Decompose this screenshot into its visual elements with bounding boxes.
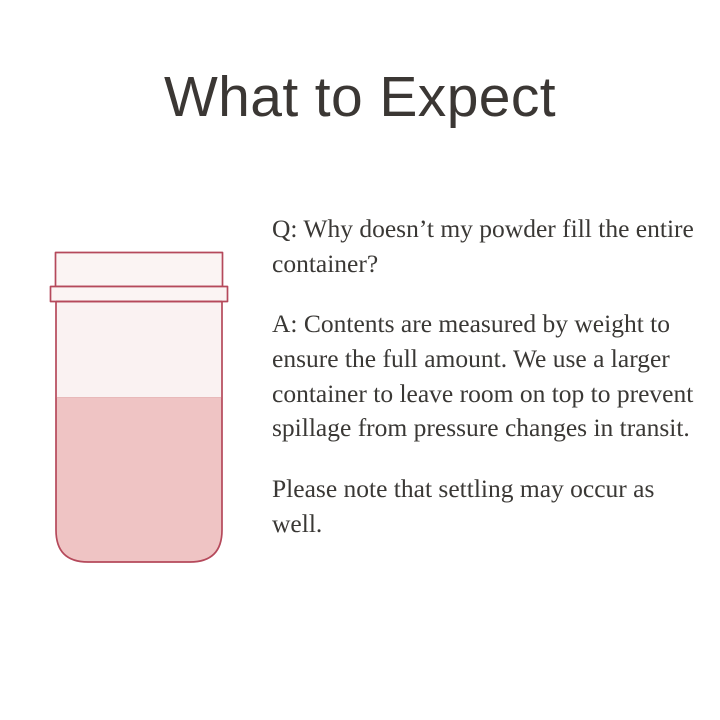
faq-text-block: Q: Why doesn’t my powder fill the entire… xyxy=(272,212,696,541)
lid-flange xyxy=(51,287,228,302)
page-title: What to Expect xyxy=(0,68,720,128)
faq-answer: A: Contents are measured by weight to en… xyxy=(272,307,696,446)
page-root: What to Expect xyxy=(0,0,720,720)
powder-fill xyxy=(54,398,224,566)
powder-container-illustration xyxy=(40,242,240,577)
faq-note: Please note that settling may occur as w… xyxy=(272,472,696,541)
lid-cap xyxy=(56,253,223,287)
headspace-fill xyxy=(54,299,224,398)
container-svg xyxy=(40,242,240,577)
faq-question: Q: Why doesn’t my powder fill the entire… xyxy=(272,212,696,281)
container-body-fills xyxy=(54,299,224,566)
